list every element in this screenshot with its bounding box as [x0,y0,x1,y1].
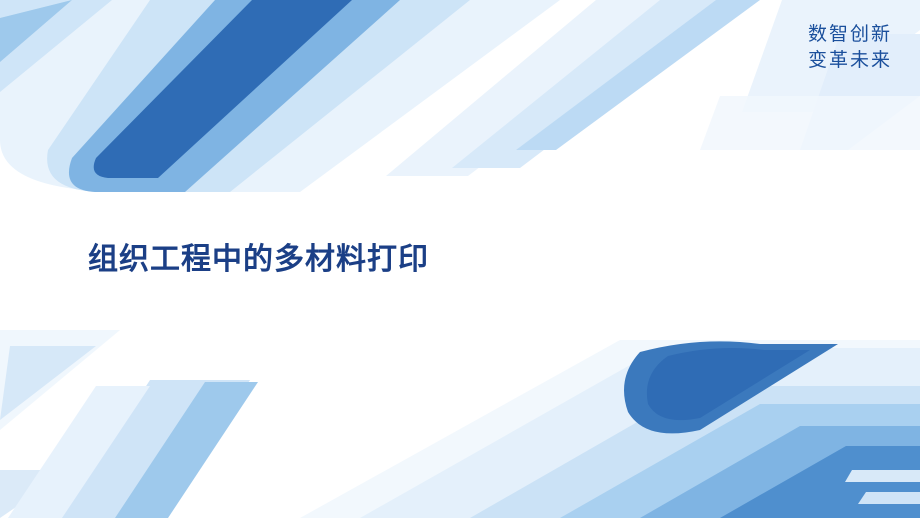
slide-title: 组织工程中的多材料打印 [88,234,429,278]
slide-canvas: 数智创新 变革未来 组织工程中的多材料打印 [0,0,920,518]
brand-badge: 数智创新 变革未来 [808,22,892,73]
brand-badge-line-1: 数智创新 [808,22,892,48]
brand-badge-line-2: 变革未来 [808,48,892,74]
